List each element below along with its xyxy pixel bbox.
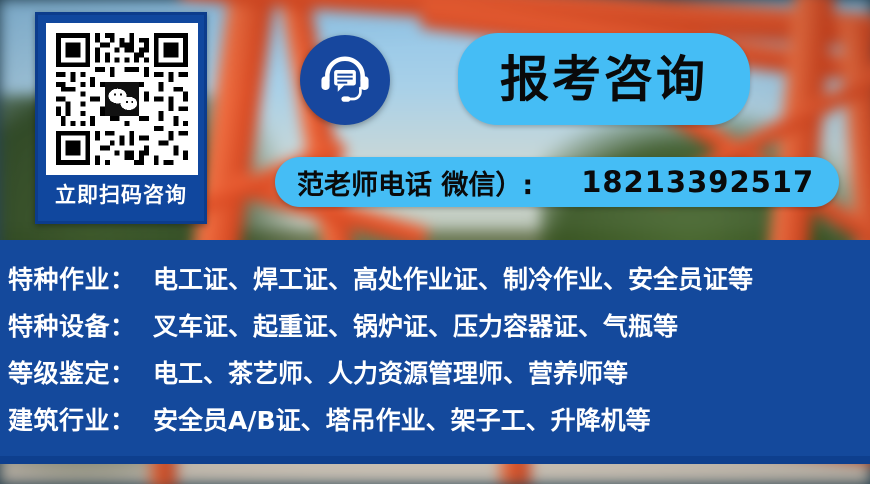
panel-bottom-edge: [0, 456, 870, 464]
category-colon: ：: [110, 260, 135, 296]
category-items: 电工证、焊工证、高处作业证、制冷作业、安全员证等: [153, 260, 753, 296]
category-colon: ：: [110, 401, 135, 437]
promo-poster: 立即扫码咨询 报考咨询 范老师电话 微信）: 18213392517 特种: [0, 0, 870, 484]
headset-support-icon: [316, 51, 374, 109]
category-name: 等级鉴定: [8, 354, 110, 390]
category-name: 特种设备: [8, 307, 110, 343]
category-colon: ：: [110, 307, 135, 343]
category-row-3: 建筑行业：安全员A/B证、塔吊作业、架子工、升降机等: [0, 395, 870, 442]
headset-support-badge: [300, 35, 390, 125]
consultation-title-text: 报考咨询: [500, 55, 708, 104]
category-list-panel: 特种作业：电工证、焊工证、高处作业证、制冷作业、安全员证等 特种设备：叉车证、起…: [0, 240, 870, 462]
wechat-qr-code-icon: [51, 28, 193, 170]
qr-code-label: 立即扫码咨询: [38, 179, 204, 209]
consultation-title-pill[interactable]: 报考咨询: [458, 33, 750, 125]
qr-code-card[interactable]: 立即扫码咨询: [35, 12, 207, 224]
contact-phone-pill[interactable]: 范老师电话 微信）: 18213392517: [275, 157, 839, 207]
contact-label: 范老师电话 微信）:: [297, 163, 533, 202]
category-colon: ：: [110, 354, 135, 390]
category-items: 电工、茶艺师、人力资源管理师、营养师等: [153, 354, 628, 390]
qr-code-image-wrap: [46, 23, 198, 175]
category-row-1: 特种设备：叉车证、起重证、锅炉证、压力容器证、气瓶等: [0, 301, 870, 348]
contact-phone-number[interactable]: 18213392517: [581, 165, 814, 199]
category-name: 建筑行业: [8, 401, 110, 437]
category-row-0: 特种作业：电工证、焊工证、高处作业证、制冷作业、安全员证等: [0, 254, 870, 301]
category-row-2: 等级鉴定：电工、茶艺师、人力资源管理师、营养师等: [0, 348, 870, 395]
category-items: 叉车证、起重证、锅炉证、压力容器证、气瓶等: [153, 307, 678, 343]
category-name: 特种作业: [8, 260, 110, 296]
category-items: 安全员A/B证、塔吊作业、架子工、升降机等: [153, 401, 651, 437]
